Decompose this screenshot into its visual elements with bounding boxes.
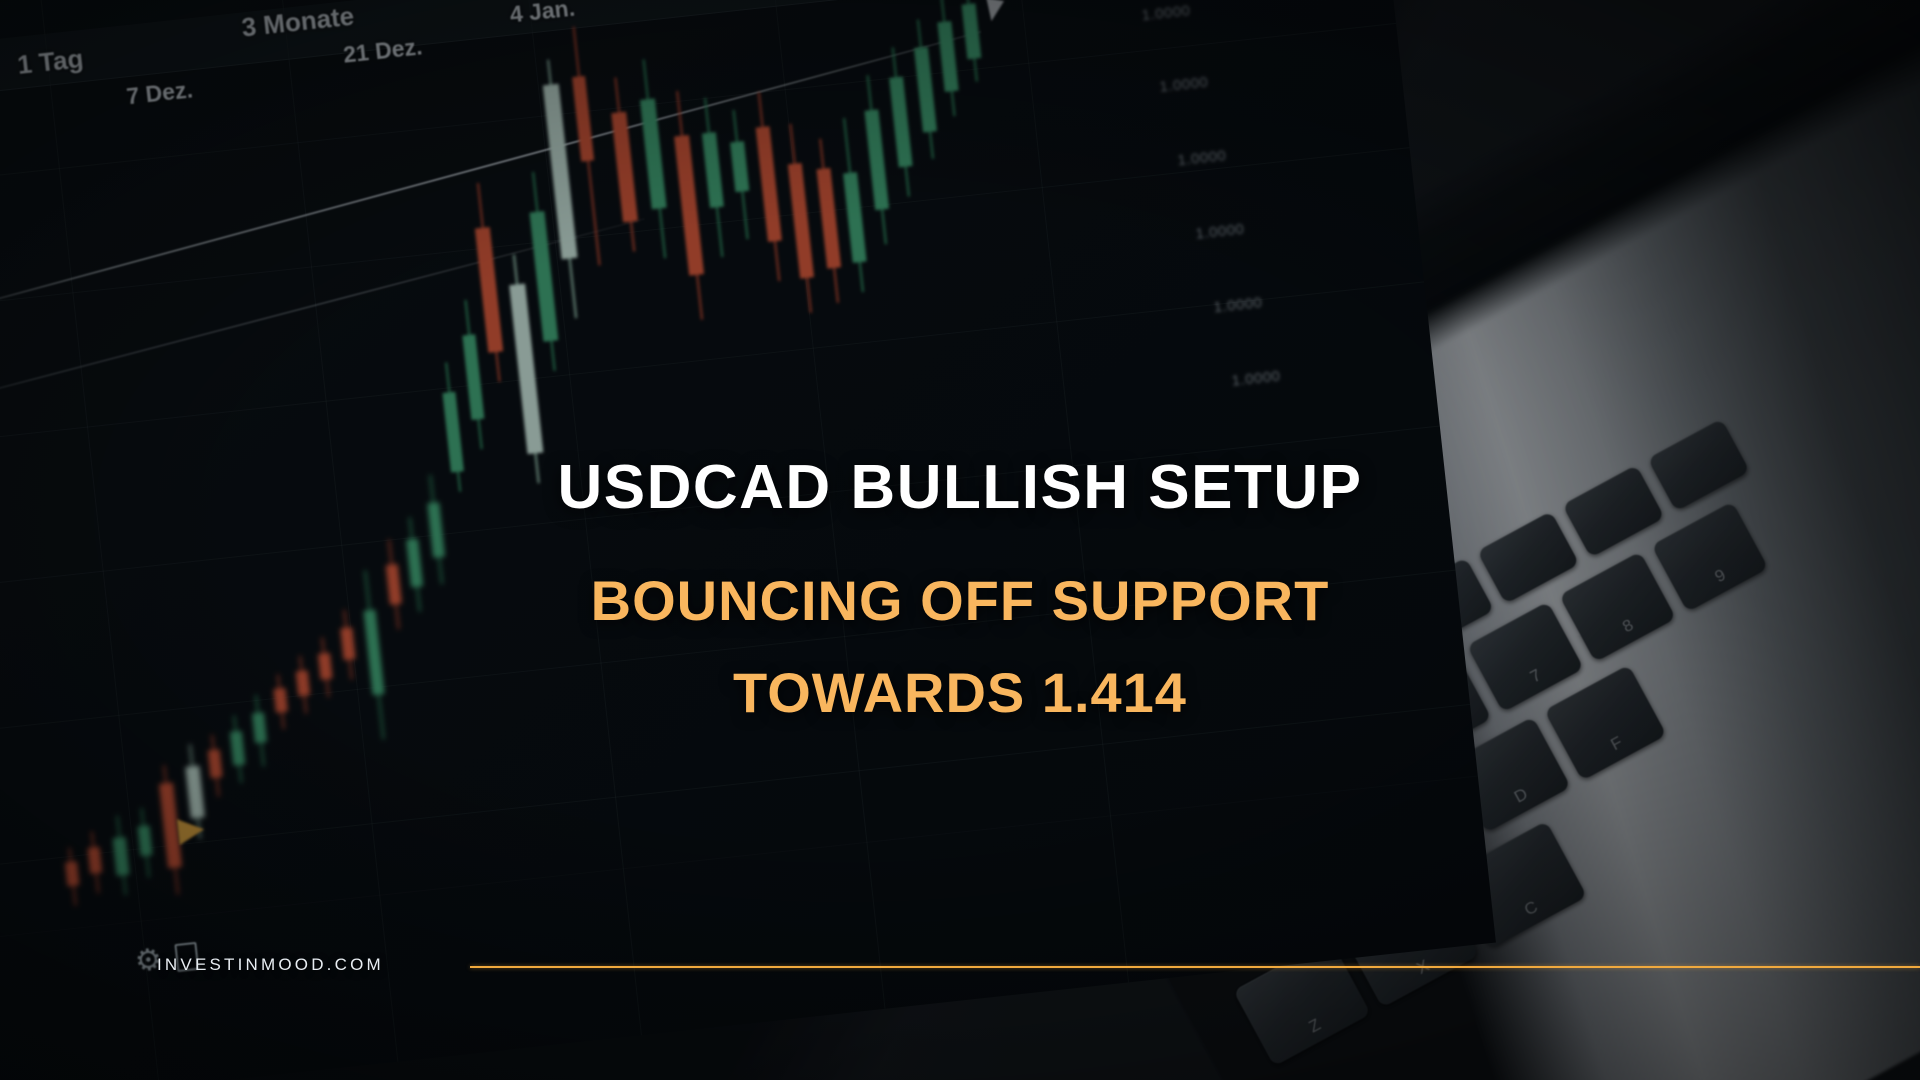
subtitle-line-2: TOWARDS 1.414 xyxy=(0,660,1920,725)
brand-watermark: INVESTINMOOD.COM xyxy=(157,955,384,975)
footer-divider-rule xyxy=(470,966,1920,968)
page-title: USDCAD BULLISH SETUP xyxy=(0,452,1920,523)
poster-root: MacBook Pro F4 % 6 7 8 9 A S D F xyxy=(0,0,1920,1080)
subtitle-line-1: BOUNCING OFF SUPPORT xyxy=(0,568,1920,633)
text-overlay: USDCAD BULLISH SETUP BOUNCING OFF SUPPOR… xyxy=(0,0,1920,1080)
